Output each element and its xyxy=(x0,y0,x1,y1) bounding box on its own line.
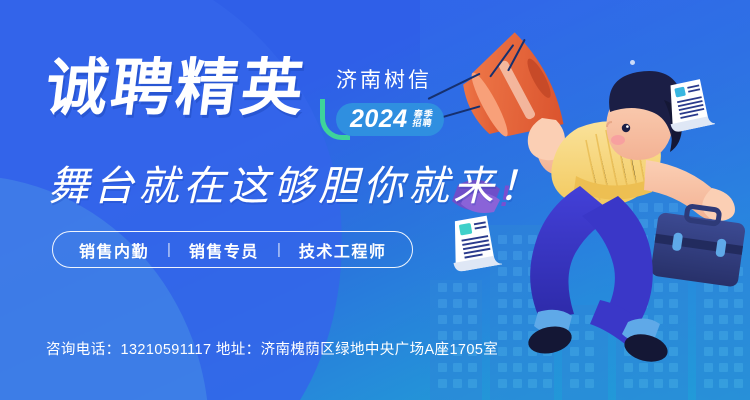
position-separator: | xyxy=(167,241,171,258)
slogan: 舞台就在这够胆你就来！ xyxy=(48,152,543,212)
year-badge-wrap: 2024 春 季 招 聘 xyxy=(324,103,432,136)
badge-char: 聘 xyxy=(421,120,431,129)
badge-subtext: 春 季 招 聘 xyxy=(411,110,433,129)
year-badge: 2024 春 季 招 聘 xyxy=(336,103,444,136)
position-item: 销售内勤 xyxy=(79,238,149,262)
text-content: 诚聘精英 济南树信 2024 春 季 招 聘 xyxy=(46,0,566,400)
resume-document-icon xyxy=(663,78,715,132)
contact-info: 咨询电话：13210591117 地址：济南槐荫区绿地中央广场A座1705室 xyxy=(46,338,498,359)
badge-year: 2024 xyxy=(350,107,408,132)
badge-char: 招 xyxy=(411,120,421,129)
brand-column: 济南树信 2024 春 季 招 聘 xyxy=(324,58,432,136)
page-title: 诚聘精英 xyxy=(42,58,310,120)
headline-row: 诚聘精英 济南树信 2024 春 季 招 聘 xyxy=(46,58,432,136)
position-item: 销售专员 xyxy=(189,238,259,262)
positions-pill: 销售内勤 | 销售专员 | 技术工程师 xyxy=(52,231,413,268)
company-name: 济南树信 xyxy=(336,64,432,94)
position-item: 技术工程师 xyxy=(299,238,387,262)
position-separator: | xyxy=(277,241,281,258)
recruitment-banner: ! 诚聘精英 济南树信 2024 春 季 招 聘 xyxy=(0,0,750,400)
